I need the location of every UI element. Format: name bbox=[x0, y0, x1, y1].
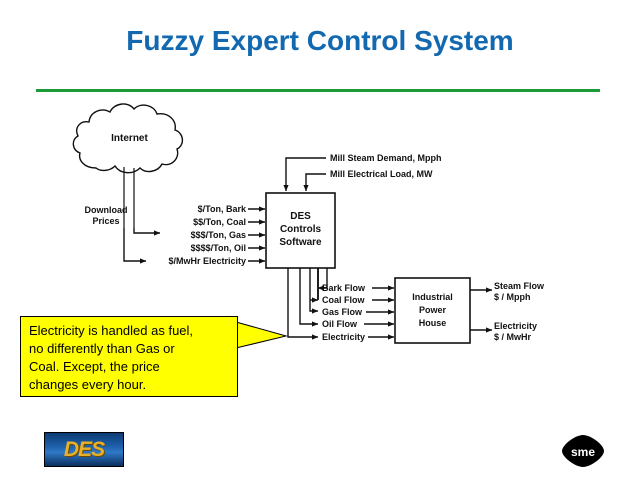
price-input-bark: $/Ton, Bark bbox=[128, 204, 246, 215]
output-electricity-line2: $ / MwHr bbox=[494, 332, 531, 343]
sme-logo: sme bbox=[561, 434, 605, 468]
des-box-line2: Controls bbox=[266, 224, 335, 235]
fuel-flow-oil: Oil Flow bbox=[322, 319, 357, 330]
callout-line-1: Electricity is handled as fuel, bbox=[29, 322, 230, 340]
price-input-oil: $$$$/Ton, Oil bbox=[128, 243, 246, 254]
output-electricity-line1: Electricity bbox=[494, 321, 537, 332]
fuel-flow-gas: Gas Flow bbox=[322, 307, 362, 318]
callout-line-2: no differently than Gas or bbox=[29, 340, 230, 358]
output-steam-flow-line2: $ / Mpph bbox=[494, 292, 531, 303]
sme-logo-text: sme bbox=[571, 445, 595, 459]
top-input-mill-steam-demand: Mill Steam Demand, Mpph bbox=[330, 153, 442, 164]
callout-line-3: Coal. Except, the price bbox=[29, 358, 230, 376]
slide-canvas: Fuzzy Expert Control System bbox=[0, 0, 640, 480]
callout-note: Electricity is handled as fuel, no diffe… bbox=[20, 316, 238, 397]
power-house-line3: House bbox=[395, 318, 470, 329]
des-logo: DES bbox=[44, 432, 124, 467]
des-logo-text: DES bbox=[64, 438, 104, 462]
callout-pointer bbox=[236, 322, 286, 348]
price-input-coal: $$/Ton, Coal bbox=[128, 217, 246, 228]
price-input-gas: $$$/Ton, Gas bbox=[128, 230, 246, 241]
fuel-flow-bark: Bark Flow bbox=[322, 283, 365, 294]
fuel-flow-coal: Coal Flow bbox=[322, 295, 365, 306]
power-house-line1: Industrial bbox=[395, 292, 470, 303]
des-box-line1: DES bbox=[266, 211, 335, 222]
top-input-mill-electrical-load: Mill Electrical Load, MW bbox=[330, 169, 433, 180]
fuel-flow-electricity: Electricity bbox=[322, 332, 365, 343]
price-input-electricity: $/MwHr Electricity bbox=[128, 256, 246, 267]
output-steam-flow-line1: Steam Flow bbox=[494, 281, 544, 292]
des-box-line3: Software bbox=[266, 237, 335, 248]
callout-line-4: changes every hour. bbox=[29, 376, 230, 394]
internet-label: Internet bbox=[92, 133, 167, 144]
power-house-line2: Power bbox=[395, 305, 470, 316]
